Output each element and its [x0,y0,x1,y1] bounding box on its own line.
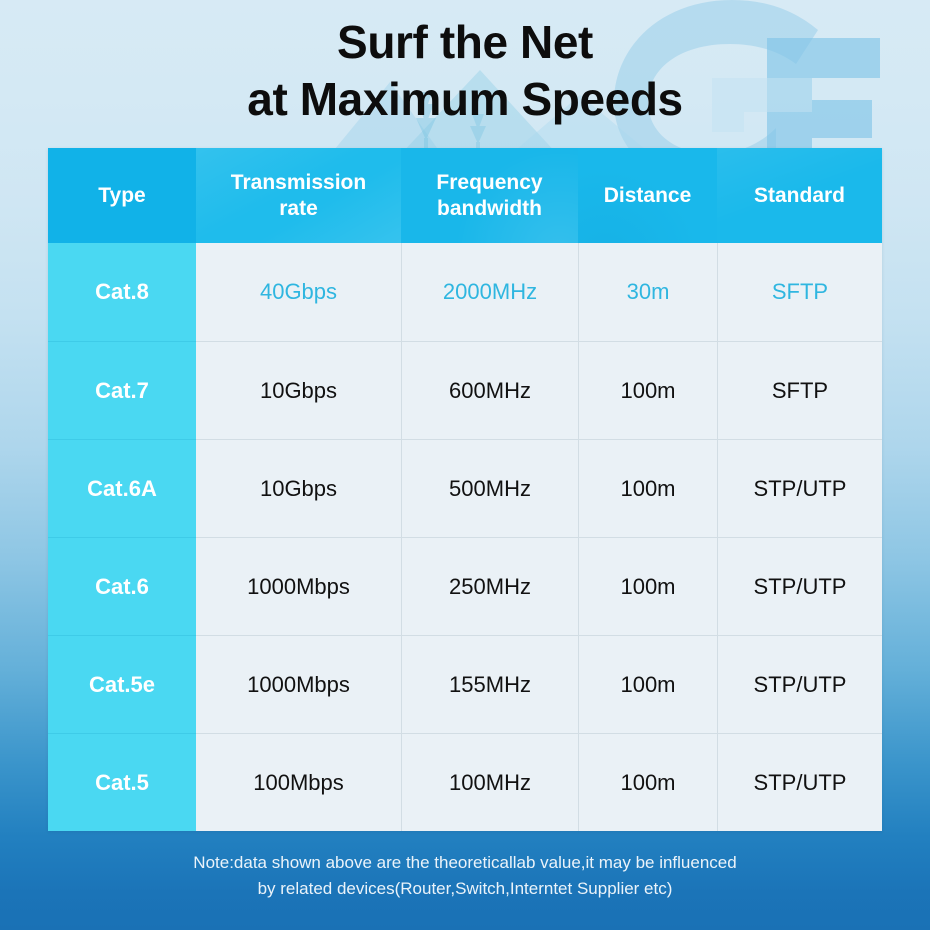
column-header-frequency-bandwidth-line-2: bandwidth [437,197,542,220]
column-header-frequency-bandwidth: Frequency bandwidth [401,148,578,243]
cell-distance: 100m [578,635,717,733]
table-row: Cat.6A10Gbps500MHz100mSTP/UTP [48,439,882,537]
footer-note-line-1: Note:data shown above are the theoretica… [0,850,930,876]
cell-distance: 100m [578,537,717,635]
cell-frequency-bandwidth: 600MHz [401,341,578,439]
table-row: Cat.5e1000Mbps155MHz100mSTP/UTP [48,635,882,733]
cell-frequency-bandwidth: 100MHz [401,733,578,831]
cell-type: Cat.7 [48,341,196,439]
cell-frequency-bandwidth: 250MHz [401,537,578,635]
cell-distance: 100m [578,733,717,831]
cell-standard: STP/UTP [717,733,882,831]
cell-type: Cat.6A [48,439,196,537]
infographic-page: Surf the Net at Maximum Speeds Type Tran… [0,0,930,930]
cell-standard: STP/UTP [717,635,882,733]
cell-standard: SFTP [717,341,882,439]
column-header-transmission-rate-line-1: Transmission [231,171,366,194]
footer-note: Note:data shown above are the theoretica… [0,850,930,902]
cell-frequency-bandwidth: 500MHz [401,439,578,537]
cell-transmission-rate: 10Gbps [196,341,401,439]
cell-standard: STP/UTP [717,439,882,537]
column-header-standard: Standard [717,148,882,243]
cell-type: Cat.8 [48,243,196,341]
page-title: Surf the Net at Maximum Speeds [0,14,930,127]
page-title-line-2: at Maximum Speeds [0,71,930,128]
cell-standard: STP/UTP [717,537,882,635]
cell-transmission-rate: 40Gbps [196,243,401,341]
cell-type: Cat.5 [48,733,196,831]
column-header-distance: Distance [578,148,717,243]
table-row: Cat.840Gbps2000MHz30mSFTP [48,243,882,341]
table-header-row: Type Transmission rate Frequency bandwid… [48,148,882,243]
column-header-frequency-bandwidth-line-1: Frequency [436,171,542,194]
table-row: Cat.61000Mbps250MHz100mSTP/UTP [48,537,882,635]
footer-note-line-2: by related devices(Router,Switch,Internt… [0,876,930,902]
cell-distance: 30m [578,243,717,341]
cell-distance: 100m [578,341,717,439]
page-title-line-1: Surf the Net [0,14,930,71]
cell-standard: SFTP [717,243,882,341]
cell-frequency-bandwidth: 2000MHz [401,243,578,341]
column-header-transmission-rate: Transmission rate [196,148,401,243]
cell-type: Cat.6 [48,537,196,635]
cell-type: Cat.5e [48,635,196,733]
cell-transmission-rate: 1000Mbps [196,537,401,635]
table-row: Cat.5100Mbps100MHz100mSTP/UTP [48,733,882,831]
column-header-type: Type [48,148,196,243]
cell-distance: 100m [578,439,717,537]
table-body: Cat.840Gbps2000MHz30mSFTPCat.710Gbps600M… [48,243,882,831]
cell-frequency-bandwidth: 155MHz [401,635,578,733]
ethernet-cable-spec-table: Type Transmission rate Frequency bandwid… [48,148,882,831]
table-row: Cat.710Gbps600MHz100mSFTP [48,341,882,439]
column-header-transmission-rate-line-2: rate [279,197,318,220]
cell-transmission-rate: 10Gbps [196,439,401,537]
cell-transmission-rate: 1000Mbps [196,635,401,733]
cell-transmission-rate: 100Mbps [196,733,401,831]
